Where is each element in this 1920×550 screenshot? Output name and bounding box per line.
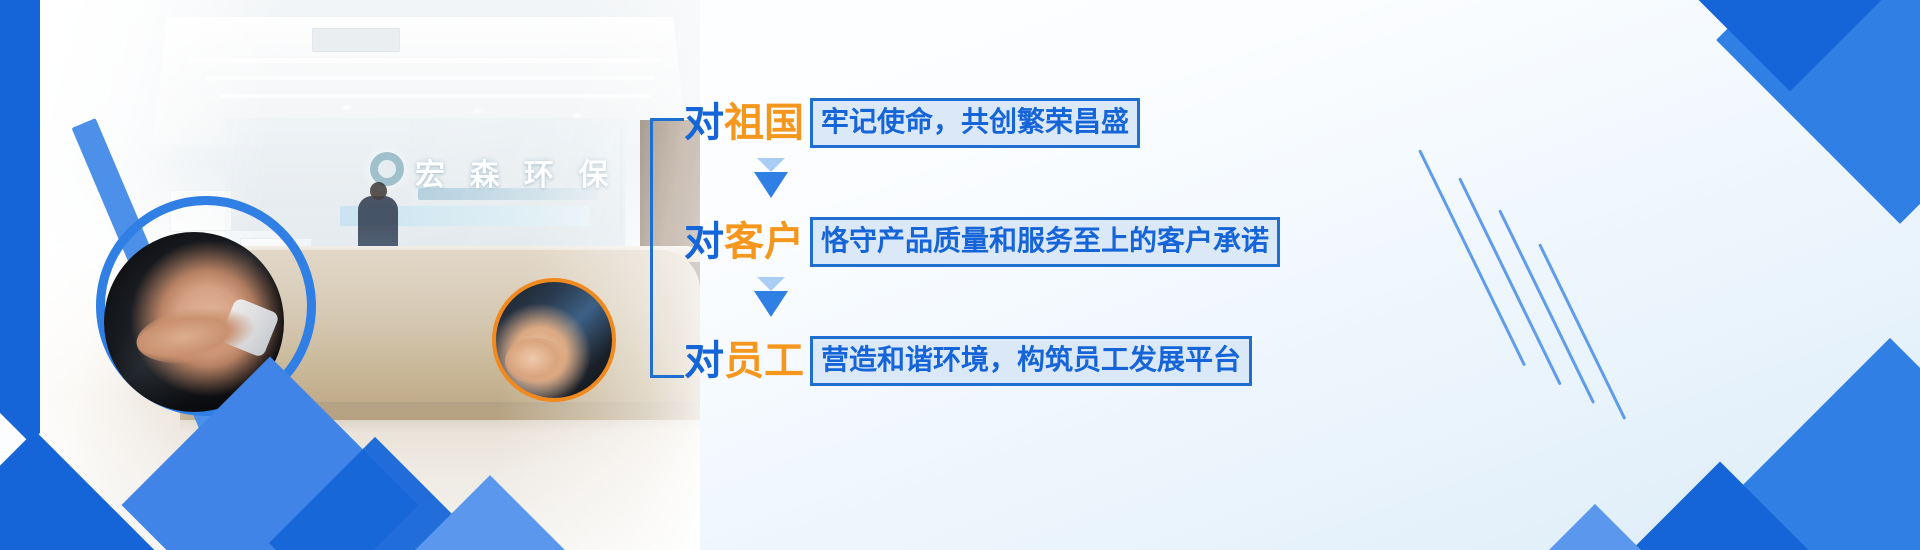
keyword-prefix: 对 [684,219,724,265]
downlight [470,108,484,115]
downlight [340,104,354,111]
value-row-customer: 对客户 恪守产品质量和服务至上的客户承诺 [684,215,1280,269]
applause-photo [496,282,612,398]
ceiling-panel [153,17,687,144]
receptionist-figure [358,196,398,262]
value-keyword-employee: 对员工 [684,341,804,381]
values-content: 对祖国 牢记使命，共创繁荣昌盛 对客户 恪守产品质量和服务至上的客户承诺 对员工… [650,78,1390,408]
arrow-cap [757,158,785,172]
keyword-main: 祖国 [724,100,804,146]
value-phrase-employee: 营造和谐环境，构筑员工发展平台 [810,336,1252,386]
arrow-cap [757,277,785,291]
keyword-prefix: 对 [684,338,724,384]
value-keyword-country: 对祖国 [684,103,804,143]
decor-thin-line [1498,209,1595,404]
value-phrase-customer: 恪守产品质量和服务至上的客户承诺 [810,217,1280,267]
value-phrase-country: 牢记使命，共创繁荣昌盛 [810,98,1140,148]
door-frame [620,128,623,348]
ceiling-slat [220,94,650,98]
shirt-cuff [219,297,280,358]
ceiling-slat [205,76,655,80]
keyword-main: 员工 [724,338,804,384]
info-screen-strip [340,206,590,226]
company-sign-subtitle-bar [418,188,598,200]
decor-thin-line [1538,243,1626,420]
keyword-prefix: 对 [684,100,724,146]
arrow-tip [754,291,788,317]
corporate-values-banner: 宏 森 环 保 对祖国 牢记使命，共创繁荣昌盛 [0,0,1920,550]
ceiling-vent [312,28,400,52]
arrow-tip [754,172,788,198]
decor-thin-line [1418,149,1526,366]
ceiling-slat [190,58,660,63]
company-logo-icon [370,152,404,186]
value-row-country: 对祖国 牢记使命，共创繁荣昌盛 [684,96,1140,150]
keyword-main: 客户 [724,219,804,265]
value-row-employee: 对员工 营造和谐环境，构筑员工发展平台 [684,334,1252,388]
downlight [570,112,584,119]
company-sign-text: 宏 森 环 保 [415,150,615,194]
bracket-connector-icon [650,118,684,378]
value-keyword-customer: 对客户 [684,222,804,262]
decor-thin-line [1458,177,1562,385]
